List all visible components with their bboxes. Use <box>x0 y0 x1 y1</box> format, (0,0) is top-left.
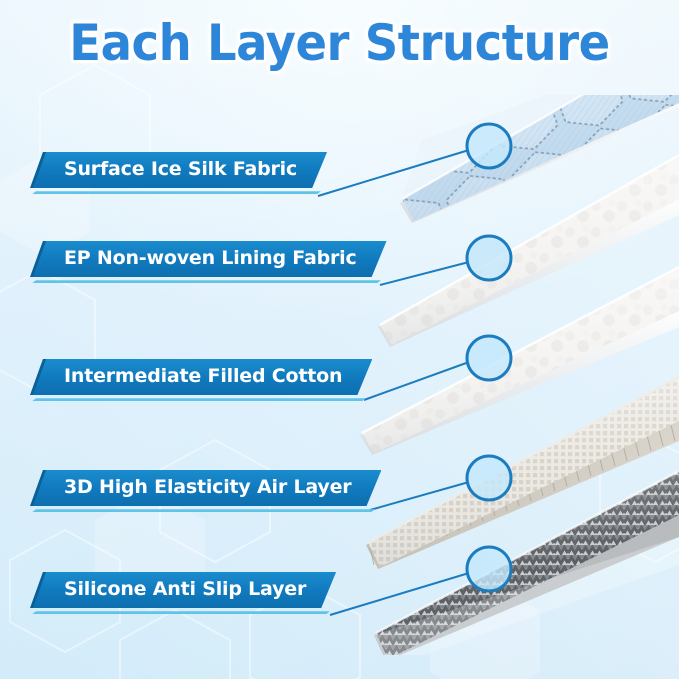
callout-label-layer-4[interactable]: 3D High Elasticity Air Layer <box>30 470 381 506</box>
callout-label-layer-5[interactable]: Silicone Anti Slip Layer <box>30 572 336 608</box>
product-layer-stack-illustration <box>330 95 679 655</box>
banner-underline <box>32 280 381 283</box>
callout-layer-5[interactable]: Silicone Anti Slip Layer <box>30 572 336 608</box>
callout-label-layer-1[interactable]: Surface Ice Silk Fabric <box>30 152 327 188</box>
marker-layer-5[interactable] <box>467 547 511 591</box>
marker-layer-3[interactable] <box>467 336 511 380</box>
banner-underline <box>32 398 366 401</box>
layer-2-ep-non-woven-lining-fabric <box>370 145 679 355</box>
marker-layer-1[interactable] <box>467 124 511 168</box>
callout-layer-1[interactable]: Surface Ice Silk Fabric <box>30 152 327 188</box>
callout-layer-4[interactable]: 3D High Elasticity Air Layer <box>30 470 381 506</box>
page-title: Each Layer Structure <box>24 14 655 72</box>
banner-underline <box>32 191 321 194</box>
infographic-poster: Each Layer Structure <box>0 0 679 679</box>
callout-label-layer-2[interactable]: EP Non-woven Lining Fabric <box>30 241 387 277</box>
callout-layer-2[interactable]: EP Non-woven Lining Fabric <box>30 241 387 277</box>
banner-underline <box>32 509 375 512</box>
layer-marker-group <box>467 124 511 591</box>
marker-layer-4[interactable] <box>467 456 511 500</box>
marker-layer-2[interactable] <box>467 236 511 280</box>
layer-1-surface-ice-silk-fabric <box>390 95 679 235</box>
layer-4-3d-high-elasticity-air-layer <box>355 365 679 580</box>
banner-underline <box>32 611 330 614</box>
callout-layer-3[interactable]: Intermediate Filled Cotton <box>30 359 372 395</box>
layer-3-intermediate-filled-cotton <box>350 255 679 465</box>
layer-5-silicone-anti-slip-layer <box>360 455 679 655</box>
callout-label-layer-3[interactable]: Intermediate Filled Cotton <box>30 359 372 395</box>
